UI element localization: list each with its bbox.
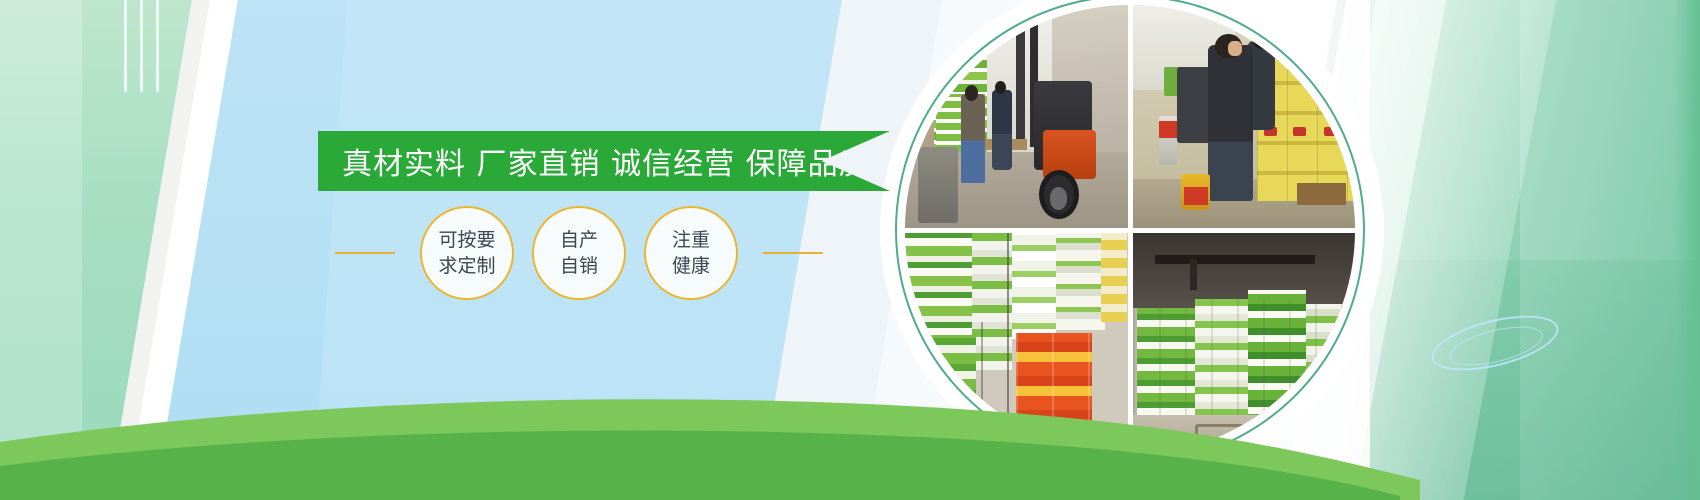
feature-line-2: 求定制	[438, 253, 495, 279]
left-thin-line-1	[124, 0, 127, 92]
left-thin-line-2	[140, 0, 143, 92]
slogan-ribbon: 真材实料 厂家直销 诚信经营 保障品质	[318, 131, 890, 191]
feature-circle-custom-made[interactable]: 可按要 求定制	[420, 206, 514, 300]
photo-worker-yellow-crates	[1133, 5, 1356, 228]
decor-line-right	[763, 252, 823, 254]
wave-svg	[0, 380, 1700, 500]
feature-line-1: 可按要	[438, 227, 495, 253]
slogan-text: 真材实料 厂家直销 诚信经营 保障品质	[318, 139, 870, 183]
photo-forklift-loading-truck	[905, 5, 1128, 228]
feature-circle-focus-on-health[interactable]: 注重 健康	[644, 206, 738, 300]
feature-circle-row: 可按要 求定制 自产 自销 注重 健康	[335, 205, 845, 300]
feature-line-2: 自销	[560, 253, 598, 279]
feature-circle-self-produced-self-sold[interactable]: 自产 自销	[532, 206, 626, 300]
left-thin-line-3	[156, 0, 159, 92]
feature-line-1: 自产	[560, 227, 598, 253]
feature-line-2: 健康	[672, 253, 710, 279]
promo-banner: 真材实料 厂家直销 诚信经营 保障品质 可按要 求定制 自产 自销 注重 健康	[0, 0, 1700, 500]
decor-line-left	[335, 252, 395, 254]
feature-line-1: 注重	[672, 227, 710, 253]
bottom-green-wave	[0, 380, 1700, 500]
